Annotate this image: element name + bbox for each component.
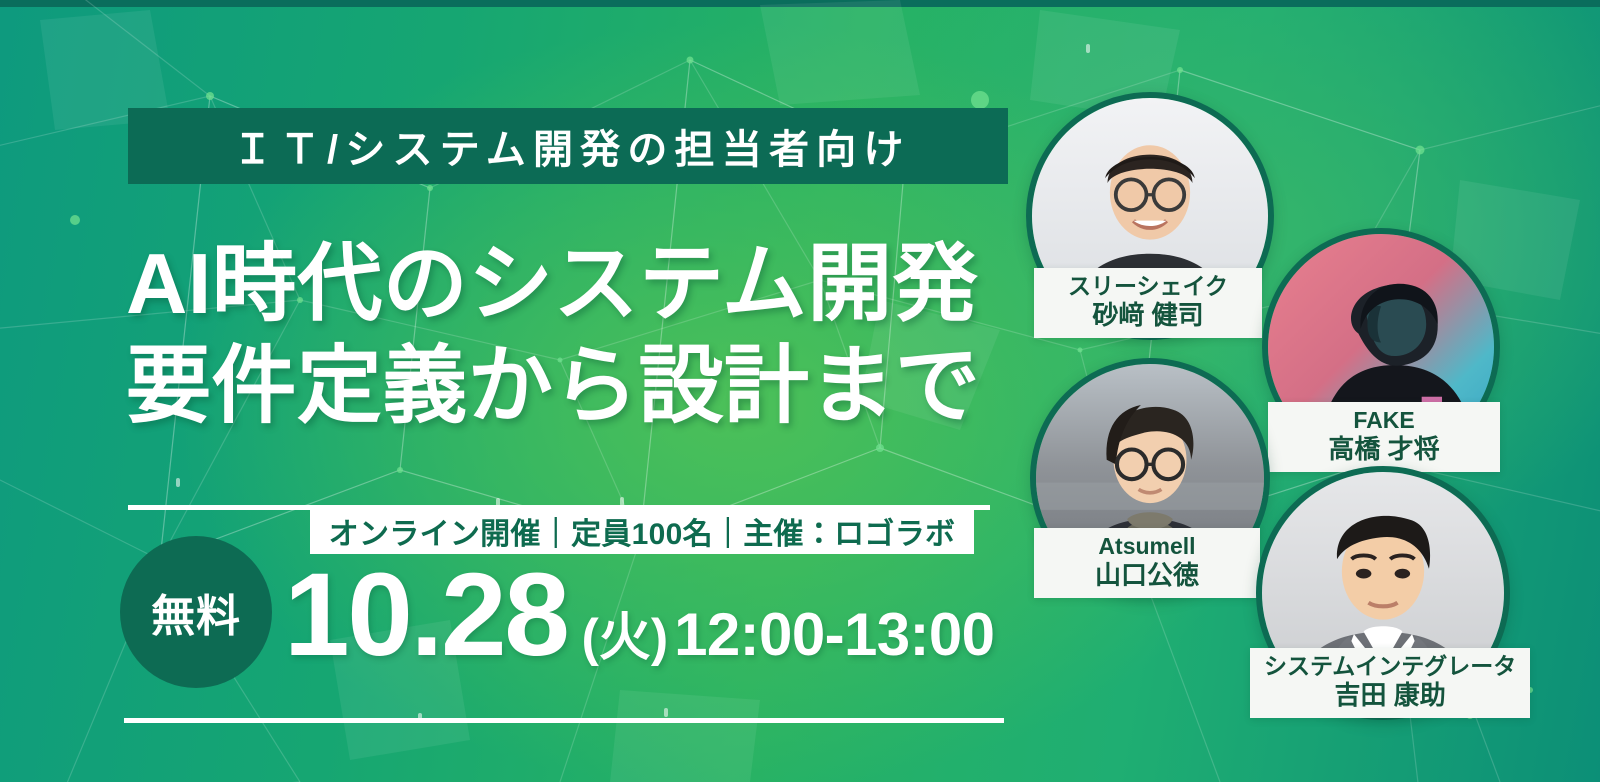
- speaker-name-0: 砂﨑 健司: [1048, 300, 1248, 331]
- speaker-org-1: FAKE: [1282, 407, 1486, 434]
- speaker-org-2: Atsumell: [1048, 533, 1246, 560]
- speaker-nameplate-2: Atsumell 山口公徳: [1034, 528, 1260, 598]
- speaker-list: スリーシェイク 砂﨑 健司: [0, 0, 1600, 782]
- speaker-name-3: 吉田 康助: [1264, 680, 1516, 711]
- speaker-name-2: 山口公徳: [1048, 560, 1246, 591]
- speaker-nameplate-0: スリーシェイク 砂﨑 健司: [1034, 268, 1262, 338]
- speaker-nameplate-3: システムインテグレータ 吉田 康助: [1250, 648, 1530, 718]
- speaker-org-0: スリーシェイク: [1048, 273, 1248, 300]
- speaker-nameplate-1: FAKE 高橋 才将: [1268, 402, 1500, 472]
- webinar-banner: ＩＴ/システム開発の担当者向け AI時代のシステム開発 要件定義から設計まで オ…: [0, 0, 1600, 782]
- speaker-org-3: システムインテグレータ: [1264, 653, 1516, 680]
- speaker-name-1: 高橋 才将: [1282, 434, 1486, 465]
